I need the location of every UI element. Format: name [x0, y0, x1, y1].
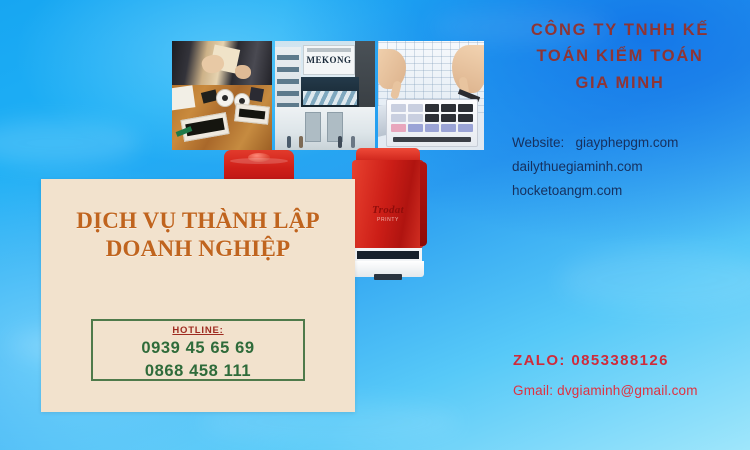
building-ground-floor — [275, 107, 375, 150]
window — [277, 79, 299, 84]
calculator-key — [458, 104, 473, 112]
calculator-key — [408, 104, 423, 112]
red-stamp-large: Trodat PRINTY — [352, 148, 424, 288]
company-name-line-2: TOÁN KIỂM TOÁN — [494, 43, 746, 69]
pedestrian — [338, 136, 342, 148]
gmail-contact[interactable]: Gmail: dvgiaminh@gmail.com — [513, 383, 698, 398]
stamp-ink-pad — [374, 274, 402, 280]
stamp-body: Trodat PRINTY — [352, 160, 424, 248]
website-label: Website: — [512, 135, 564, 150]
calculator-key — [441, 124, 456, 132]
hand-shape — [235, 65, 251, 79]
signboard-header — [307, 48, 351, 52]
company-name: CÔNG TY TNHH KẾ TOÁN KIỂM TOÁN GIA MINH — [494, 17, 746, 96]
calculator-spreadsheet-photo — [378, 41, 484, 150]
calculator — [386, 99, 478, 147]
pedestrian — [299, 136, 303, 148]
card-title-line-2: DOANH NGHIỆP — [41, 235, 355, 263]
mekong-building-photo: MEKONG — [275, 41, 375, 150]
website-link-2[interactable]: dailythuegiaminh.com — [512, 155, 748, 179]
stamp-object — [249, 87, 264, 102]
website-link-3[interactable]: hocketoangm.com — [512, 179, 748, 203]
entrance-door — [305, 112, 321, 142]
company-name-line-3: GIA MINH — [494, 70, 746, 96]
stamp-side-panel — [420, 162, 427, 246]
zalo-contact[interactable]: ZALO: 0853388126 — [513, 352, 669, 369]
calculator-key — [458, 124, 473, 132]
calculator-key — [441, 104, 456, 112]
website-primary-link[interactable]: giayphepgm.com — [576, 135, 679, 150]
window — [277, 91, 299, 96]
stamp-brand-text: Trodat — [352, 204, 424, 216]
stamp-plate — [239, 109, 266, 120]
service-card: DỊCH VỤ THÀNH LẬP DOANH NGHIỆP HOTLINE: … — [41, 179, 355, 412]
canopy-pattern — [303, 91, 357, 105]
hotline-box: HOTLINE: 0939 45 65 69 0868 458 111 — [91, 319, 305, 381]
cloud-wisp — [560, 250, 750, 310]
card-title: DỊCH VỤ THÀNH LẬP DOANH NGHIỆP — [41, 207, 355, 263]
pedestrian — [351, 136, 355, 148]
image-collage: MEKONG — [172, 41, 484, 150]
calculator-key — [408, 124, 423, 132]
calculator-key — [425, 124, 440, 132]
calculator-key — [391, 124, 406, 132]
mekong-sign-text: MEKONG — [304, 55, 354, 65]
paper-shape — [172, 85, 195, 110]
website-block: Website: giayphepgm.com dailythuegiaminh… — [512, 131, 748, 203]
company-name-line-1: CÔNG TY TNHH KẾ — [494, 17, 746, 43]
calculator-key — [391, 114, 406, 122]
pedestrian — [287, 136, 291, 148]
card-title-line-1: DỊCH VỤ THÀNH LẬP — [41, 207, 355, 235]
stamp-text-plate — [357, 251, 419, 259]
office-stamp-desk-photo — [172, 41, 272, 150]
poster-canvas: MEKONG — [0, 0, 750, 450]
ink-pad-disc — [216, 89, 234, 107]
calculator-key — [425, 104, 440, 112]
website-primary-row: Website: giayphepgm.com — [512, 131, 748, 155]
calculator-key — [391, 104, 406, 112]
calculator-key — [425, 114, 440, 122]
calculator-base-bar — [393, 137, 471, 142]
stamp-box — [234, 103, 270, 124]
calculator-keypad — [391, 104, 473, 132]
calculator-key — [441, 114, 456, 122]
window — [277, 55, 299, 60]
stamp-brand-subtext: PRINTY — [352, 217, 424, 223]
hotline-label: HOTLINE: — [93, 325, 303, 336]
mekong-signboard: MEKONG — [303, 45, 355, 75]
hotline-number-1[interactable]: 0939 45 65 69 — [93, 338, 303, 359]
calculator-key — [458, 114, 473, 122]
cloud-wisp — [0, 120, 140, 166]
window — [277, 67, 299, 72]
hotline-number-2[interactable]: 0868 458 111 — [93, 361, 303, 382]
calculator-key — [408, 114, 423, 122]
